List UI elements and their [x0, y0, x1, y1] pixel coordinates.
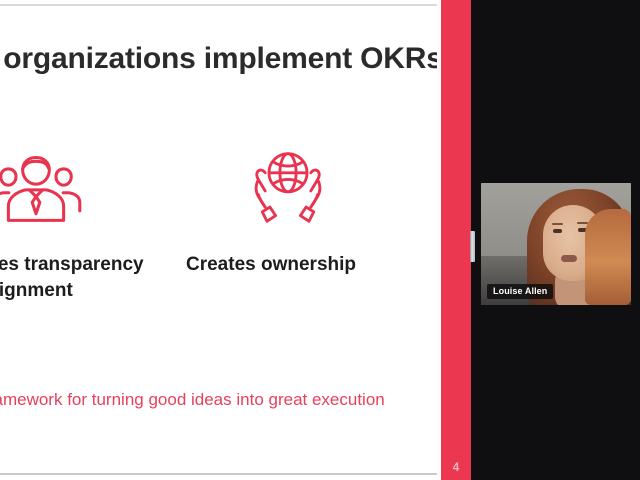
- video-eye-left: [553, 229, 562, 233]
- participants-side-panel: Louise Allen: [471, 0, 640, 480]
- slide-number: 4: [441, 460, 471, 474]
- video-mouth: [561, 255, 577, 262]
- slide-item-caption: Ensures transparency and alignment: [0, 252, 154, 304]
- panel-resize-handle[interactable]: [470, 231, 475, 262]
- people-group-icon: [0, 148, 84, 228]
- slide-item-caption: Creates ownership: [186, 252, 416, 278]
- participant-video-tile[interactable]: Louise Allen: [481, 183, 631, 305]
- slide-title: Why do organizations implement OKRs?: [0, 42, 440, 76]
- shared-slide-region[interactable]: Why do organizations implement OKRs?: [0, 0, 440, 480]
- slide-bottom-border: [0, 473, 440, 475]
- slide-accent-bar: [441, 0, 471, 480]
- screen-share-meeting-view: Why do organizations implement OKRs?: [0, 0, 640, 480]
- participant-name-label: Louise Allen: [487, 284, 553, 299]
- slide-footer-text: A framework for turning good ideas into …: [0, 390, 438, 410]
- video-hair-strand: [585, 209, 631, 305]
- globe-in-hands-icon: [240, 148, 336, 228]
- slide-canvas: Why do organizations implement OKRs?: [0, 6, 440, 473]
- video-eyebrow-left: [552, 223, 563, 225]
